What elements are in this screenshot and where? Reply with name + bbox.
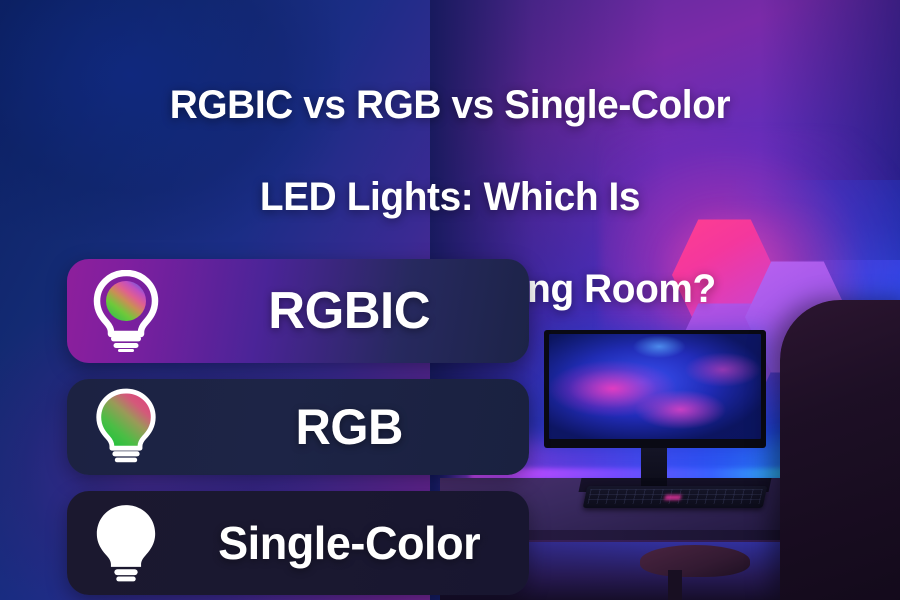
led-type-card-single-color[interactable]: Single-Color <box>67 491 529 595</box>
keyboard-rgb-accent <box>664 495 681 500</box>
led-type-label-rgbic: RGBIC <box>188 281 525 341</box>
lightbulb-gradient-icon <box>67 387 185 467</box>
promo-graphic: RGBIC vs RGB vs Single-Color LED Lights:… <box>0 0 900 600</box>
lightbulb-rainbow-icon <box>67 270 185 352</box>
led-type-card-list: RGBIC <box>67 259 529 600</box>
led-type-card-rgb[interactable]: RGB <box>67 379 529 475</box>
led-type-label-rgb: RGB <box>188 398 525 456</box>
led-type-label-single-color: Single-Color <box>188 516 525 570</box>
led-type-card-rgbic[interactable]: RGBIC <box>67 259 529 363</box>
chair-armrest <box>640 545 750 577</box>
chair-post <box>668 570 682 600</box>
title-line-2: LED Lights: Which Is <box>14 174 887 220</box>
rgb-mechanical-keyboard <box>583 486 768 508</box>
title-line-1: RGBIC vs RGB vs Single-Color <box>14 82 887 128</box>
lightbulb-white-icon <box>67 503 185 583</box>
